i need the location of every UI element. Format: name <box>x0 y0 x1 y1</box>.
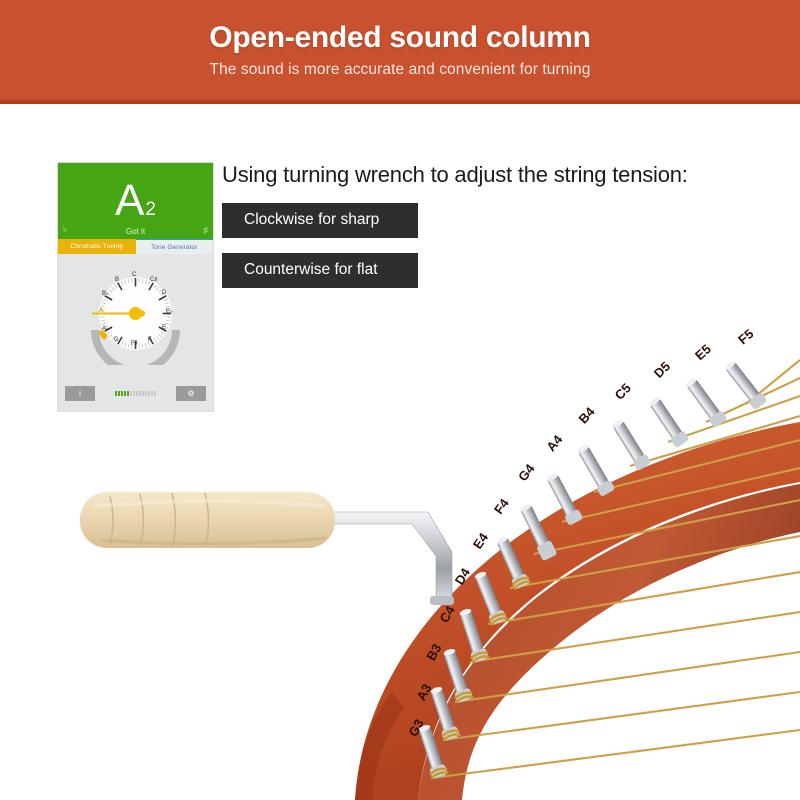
tuning-wrench <box>0 300 800 800</box>
dial-note-c: C <box>132 272 136 278</box>
dial-note-csharp: C♯ <box>150 277 157 283</box>
note-letter: A <box>115 179 144 223</box>
tab-tone-generator[interactable]: Tone Generator <box>136 239 214 254</box>
sharp-symbol-icon: ♯ <box>204 225 209 235</box>
note-octave: 2 <box>145 199 156 221</box>
tuner-tabs: Chromatic Tuning Tone Generator <box>58 239 213 254</box>
instruction-title: Using turning wrench to adjust the strin… <box>222 162 778 188</box>
instruction-row-1: Clockwise for sharp <box>222 188 778 238</box>
wrench-shaft <box>330 512 452 600</box>
wrench-handle <box>80 492 335 548</box>
header-banner: Open-ended sound column The sound is mor… <box>0 0 800 104</box>
current-note: A 2 <box>115 179 156 223</box>
page-subtitle: The sound is more accurate and convenien… <box>210 61 591 79</box>
counterwise-flat-label: Counterwise for flat <box>222 253 418 288</box>
wrench-socket <box>430 596 454 605</box>
dial-note-bflat: B♭ <box>102 290 109 297</box>
dial-note-b: B <box>115 277 119 283</box>
clockwise-sharp-label: Clockwise for sharp <box>222 203 418 238</box>
tuner-note-header: ♭ A 2 Got it ♯ <box>58 163 213 239</box>
instruction-row-2: Counterwise for flat <box>222 238 778 288</box>
infographic-page: Open-ended sound column The sound is mor… <box>0 0 800 800</box>
instruction-block: Using turning wrench to adjust the strin… <box>222 162 778 288</box>
dial-note-d: D <box>162 290 166 296</box>
tuner-status-text: Got it <box>58 227 213 236</box>
tab-chromatic-tuning[interactable]: Chromatic Tuning <box>58 239 136 254</box>
page-title: Open-ended sound column <box>209 21 590 54</box>
